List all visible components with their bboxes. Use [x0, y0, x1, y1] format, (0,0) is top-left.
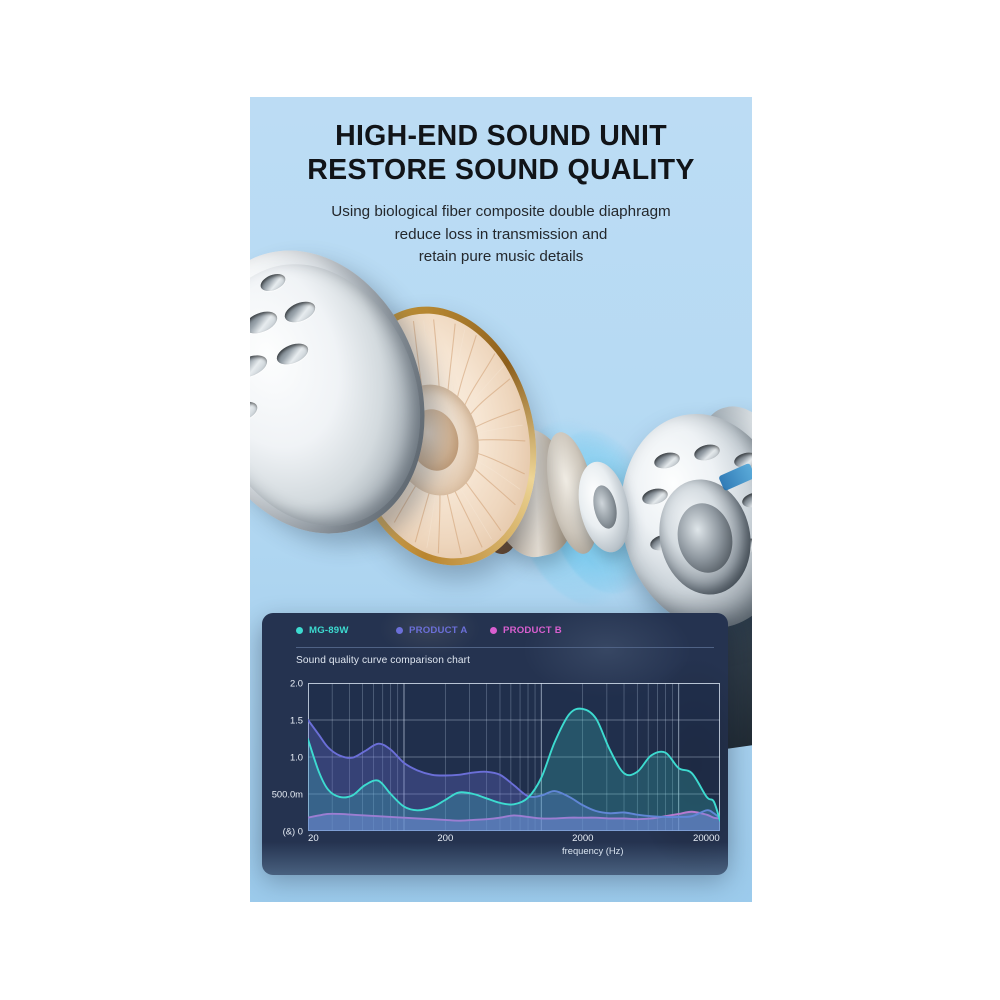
promo-panel: HIGH-END SOUND UNIT RESTORE SOUND QUALIT… — [250, 97, 752, 902]
headline-line-2: RESTORE SOUND QUALITY — [250, 153, 752, 187]
legend-item-product-b[interactable]: PRODUCT B — [490, 625, 562, 636]
page-title: HIGH-END SOUND UNIT RESTORE SOUND QUALIT… — [250, 119, 752, 187]
headline-line-1: HIGH-END SOUND UNIT — [250, 119, 752, 153]
legend-dot-icon — [296, 627, 303, 634]
chart-legend: MG-89W PRODUCT A PRODUCT B — [262, 621, 728, 643]
legend-label: PRODUCT B — [503, 625, 562, 636]
legend-divider — [296, 647, 714, 648]
panel-bottom-fade — [250, 842, 752, 902]
y-axis-tick: 2.0 — [290, 678, 303, 689]
y-axis-tick: (&) 0 — [283, 826, 303, 837]
y-axis-tick: 500.0m — [272, 789, 303, 800]
legend-dot-icon — [490, 627, 497, 634]
legend-label: MG-89W — [309, 625, 349, 636]
legend-dot-icon — [396, 627, 403, 634]
y-axis-tick: 1.5 — [290, 715, 303, 726]
y-axis-tick: 1.0 — [290, 752, 303, 763]
legend-item-mg-89w[interactable]: MG-89W — [296, 625, 349, 636]
y-axis: 2.01.51.0500.0m(&) 0 — [264, 683, 306, 831]
sound-curve-chart-card: MG-89W PRODUCT A PRODUCT B Sound quality… — [262, 613, 728, 875]
chart-title: Sound quality curve comparison chart — [296, 655, 470, 666]
chart-canvas — [308, 683, 720, 831]
page-root: HIGH-END SOUND UNIT RESTORE SOUND QUALIT… — [0, 0, 1000, 1000]
legend-item-product-a[interactable]: PRODUCT A — [396, 625, 467, 636]
legend-label: PRODUCT A — [409, 625, 467, 636]
chart-plot-area: 2.01.51.0500.0m(&) 0 20200200020000 — [308, 683, 720, 831]
